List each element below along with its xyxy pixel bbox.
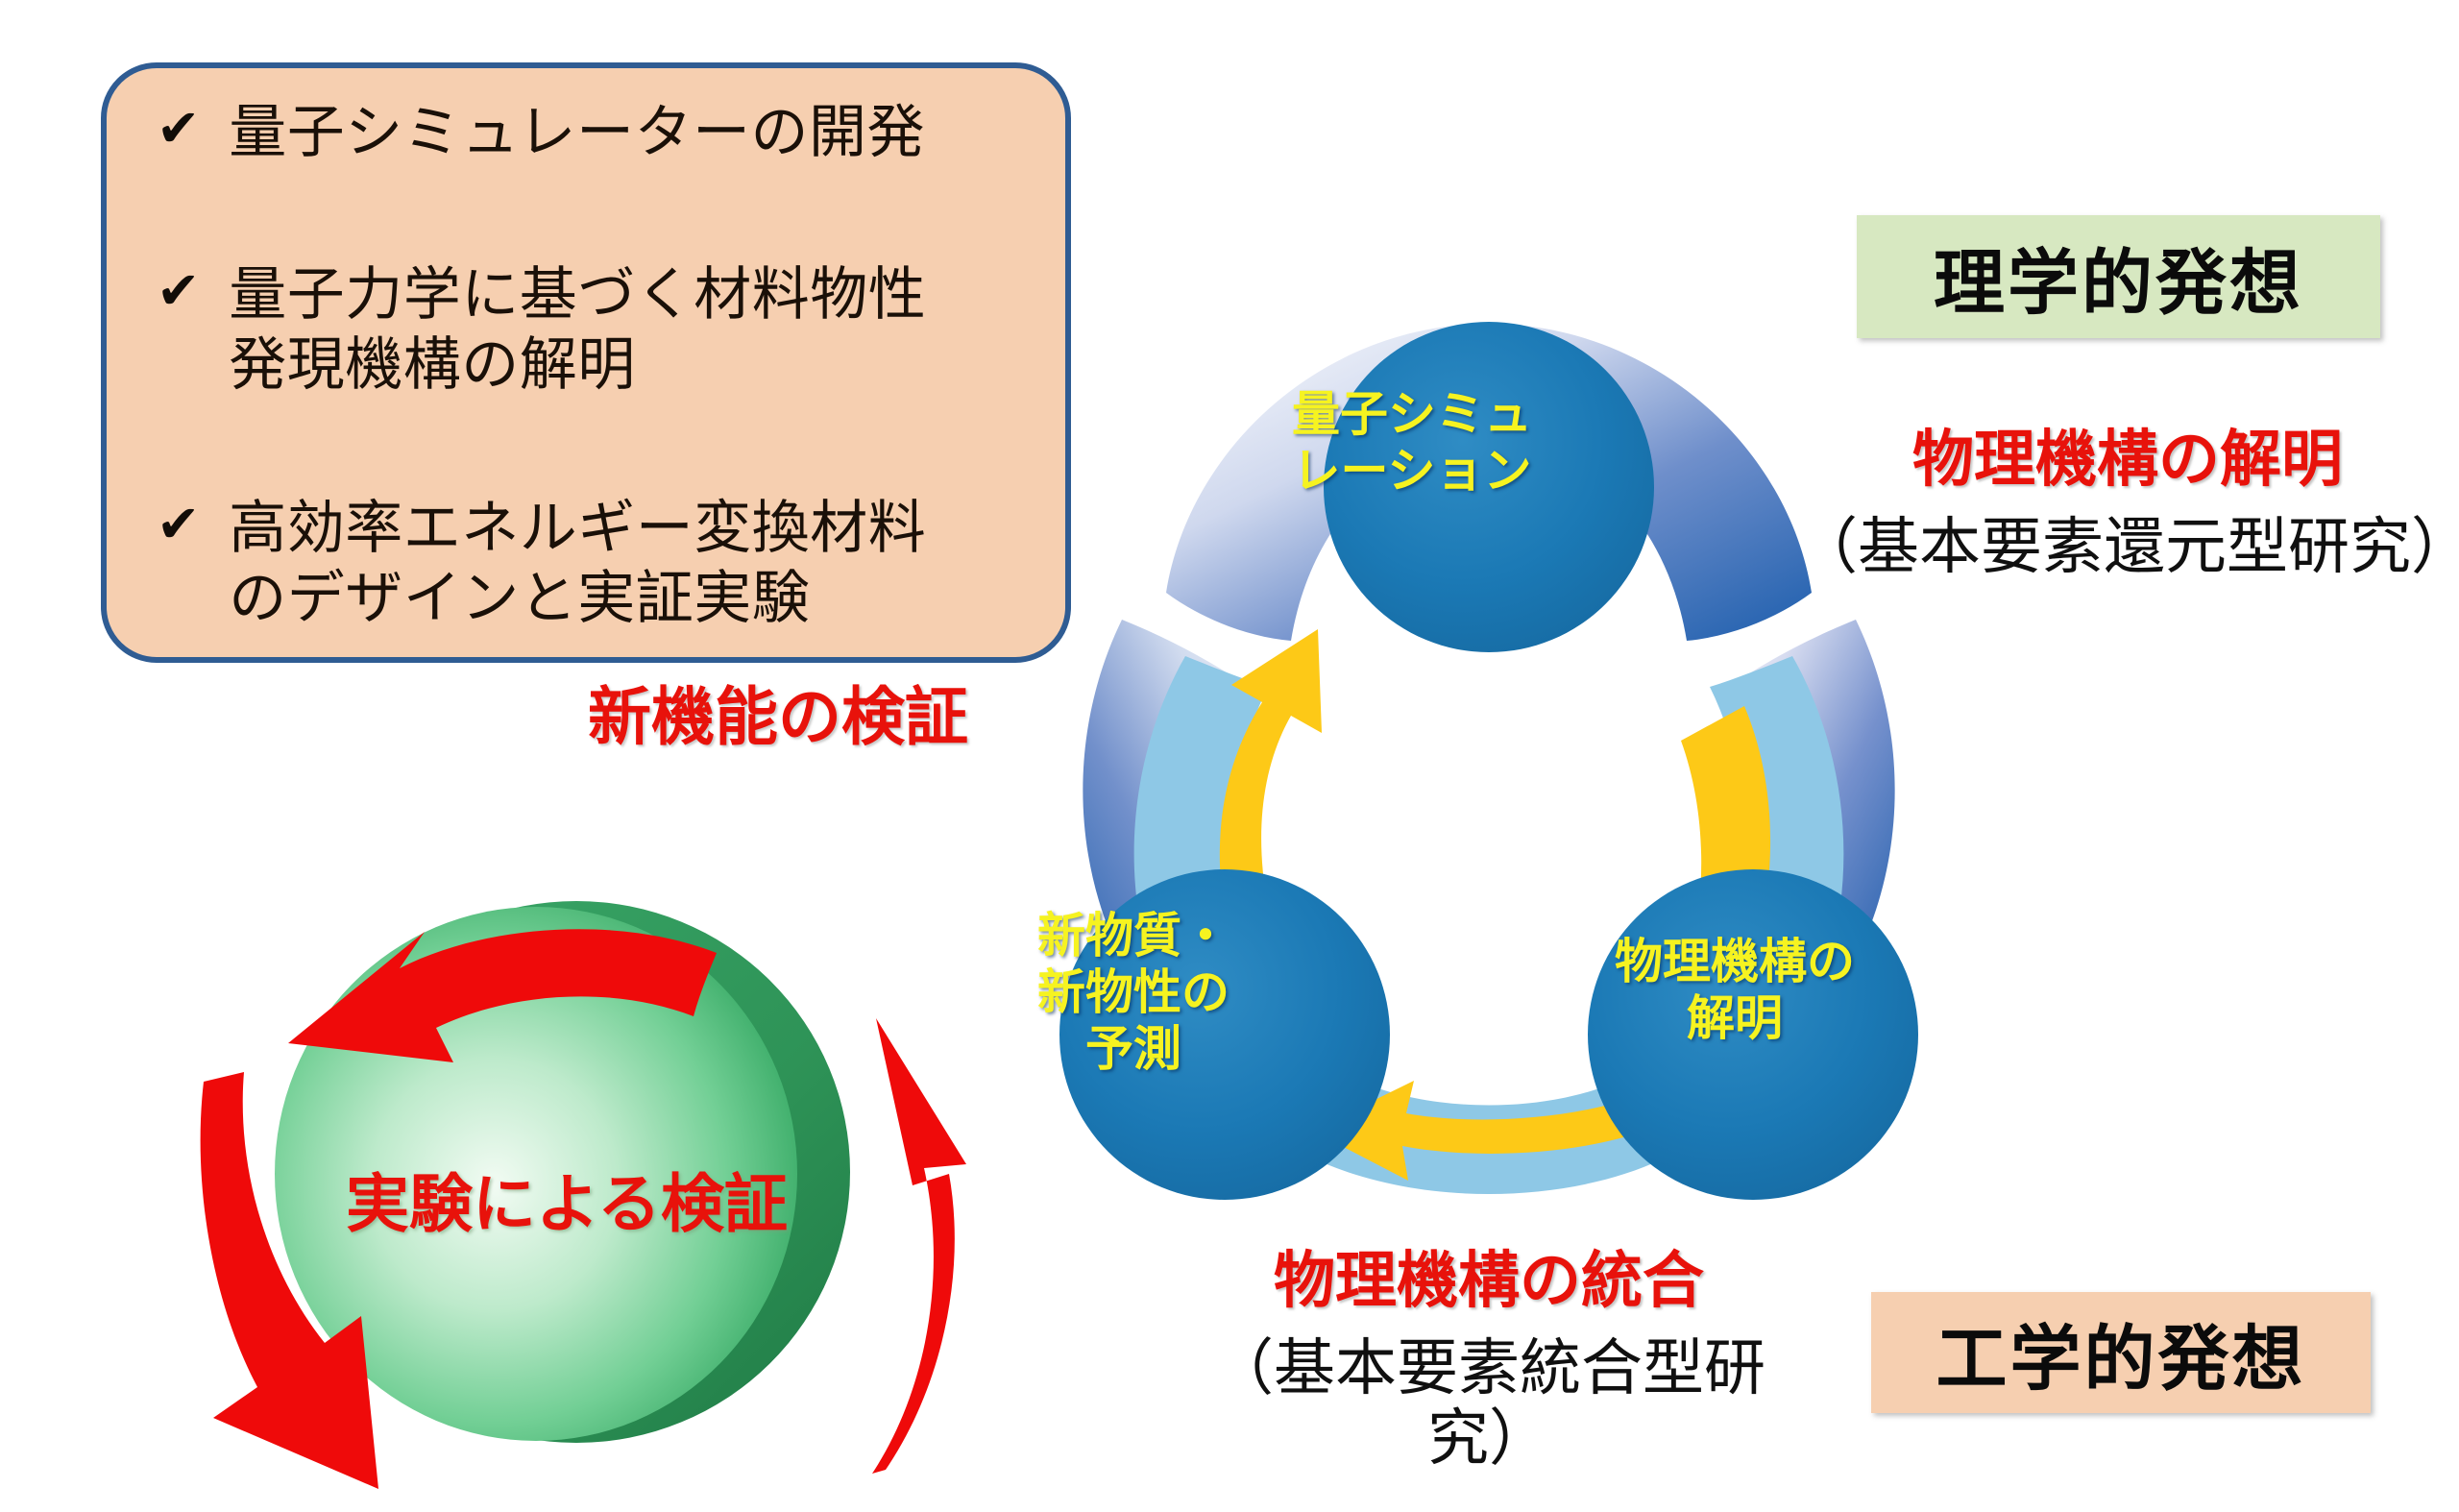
list-item: ✔ 量子力学に基づく材料物性 発現機構の解明	[157, 167, 1065, 400]
diagram-canvas: ✔ 量子シミュレーターの開発 ✔ 量子力学に基づく材料物性 発現機構の解明 ✔ …	[0, 0, 2459, 1512]
node-circle-mechanism-elucidation	[1588, 869, 1918, 1200]
objectives-panel: ✔ 量子シミュレーターの開発 ✔ 量子力学に基づく材料物性 発現機構の解明 ✔ …	[101, 62, 1071, 663]
badge-engineering-thinking: 工学的発想	[1871, 1292, 2371, 1413]
list-item-label: 量子力学に基づく材料物性 発現機構の解明	[229, 259, 926, 400]
research-cycle-diagram	[980, 207, 1998, 1239]
list-item: ✔ 量子シミュレーターの開発	[157, 68, 1065, 167]
list-item-label: 高効率エネルギー変換材料 のデザインと実証実験	[229, 493, 926, 633]
experiment-sphere-group	[173, 797, 970, 1489]
label-new-function-verification: 新機能の検証	[552, 682, 1004, 752]
list-item: ✔ 高効率エネルギー変換材料 のデザインと実証実験	[157, 401, 1065, 633]
node-circle-quantum-simulation	[1324, 322, 1654, 652]
check-icon: ✔	[157, 499, 200, 550]
caption-integration-subtitle: （基本要素統合型研究）	[1172, 1333, 1806, 1474]
check-icon: ✔	[157, 265, 200, 317]
caption-integration-title: 物理機構の統合	[1172, 1247, 1806, 1316]
caption-integrative-research: 物理機構の統合 （基本要素統合型研究）	[1172, 1230, 1806, 1491]
check-icon: ✔	[157, 103, 200, 155]
list-item-label: 量子シミュレーターの開発	[229, 97, 925, 167]
arrow-up-right-icon	[872, 1018, 966, 1474]
node-circle-new-material-prediction	[1059, 869, 1390, 1200]
